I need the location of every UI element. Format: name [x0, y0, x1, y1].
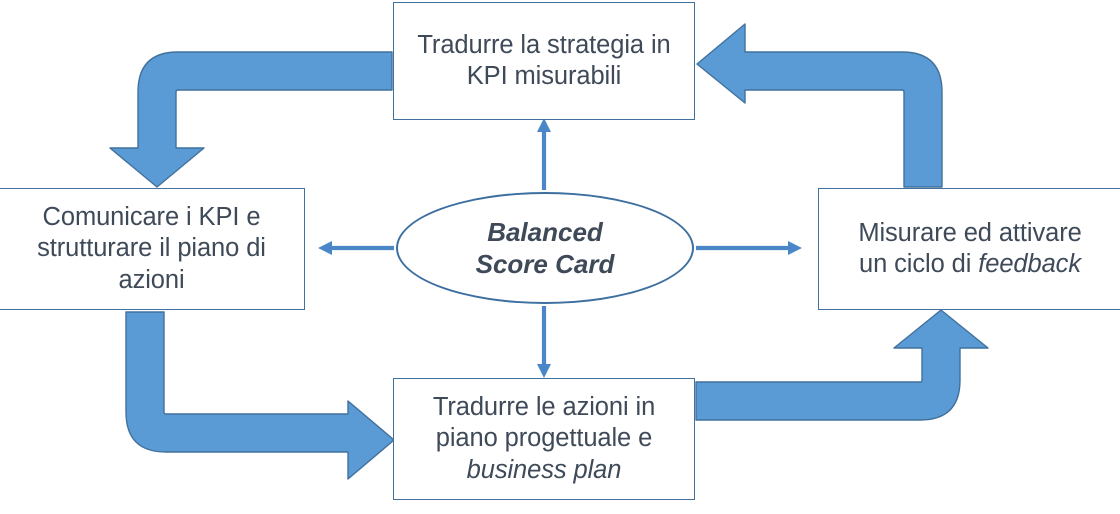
flow-arrow-top-to-left — [110, 52, 392, 187]
flow-arrow-bottom-to-right — [696, 310, 988, 420]
spoke-arrow-center-to-bottom — [537, 306, 551, 378]
flow-arrow-right-to-top — [697, 24, 942, 187]
spoke-arrow-center-to-right — [696, 241, 802, 255]
node-right-text: Misurare ed attivareun ciclo di feedback — [825, 218, 1115, 280]
node-left-text: Comunicare i KPI estrutturare il piano d… — [5, 202, 298, 295]
node-box-left[interactable]: Comunicare i KPI estrutturare il piano d… — [0, 188, 305, 310]
spoke-arrow-center-to-left — [318, 241, 394, 255]
node-right-line2: un ciclo di feedback — [859, 250, 1081, 278]
flow-arrow-left-to-bottom — [126, 312, 394, 479]
italic-term-feedback: feedback — [978, 250, 1081, 278]
spoke-arrow-center-to-top — [537, 118, 551, 190]
node-box-bottom[interactable]: Tradurre le azioni inpiano progettuale e… — [393, 378, 695, 500]
node-box-right[interactable]: Misurare ed attivareun ciclo di feedback — [818, 188, 1120, 310]
node-bottom-text: Tradurre le azioni inpiano progettuale e… — [400, 392, 688, 485]
italic-term-business-plan: business plan — [467, 456, 622, 484]
node-box-top[interactable]: Tradurre la strategia inKPI misurabili — [393, 2, 695, 120]
center-ellipse-text: BalancedScore Card — [476, 216, 615, 280]
center-ellipse-balanced-score-card[interactable]: BalancedScore Card — [396, 192, 694, 304]
diagram-canvas: Tradurre la strategia inKPI misurabili C… — [0, 0, 1120, 514]
node-top-text: Tradurre la strategia inKPI misurabili — [400, 30, 688, 92]
